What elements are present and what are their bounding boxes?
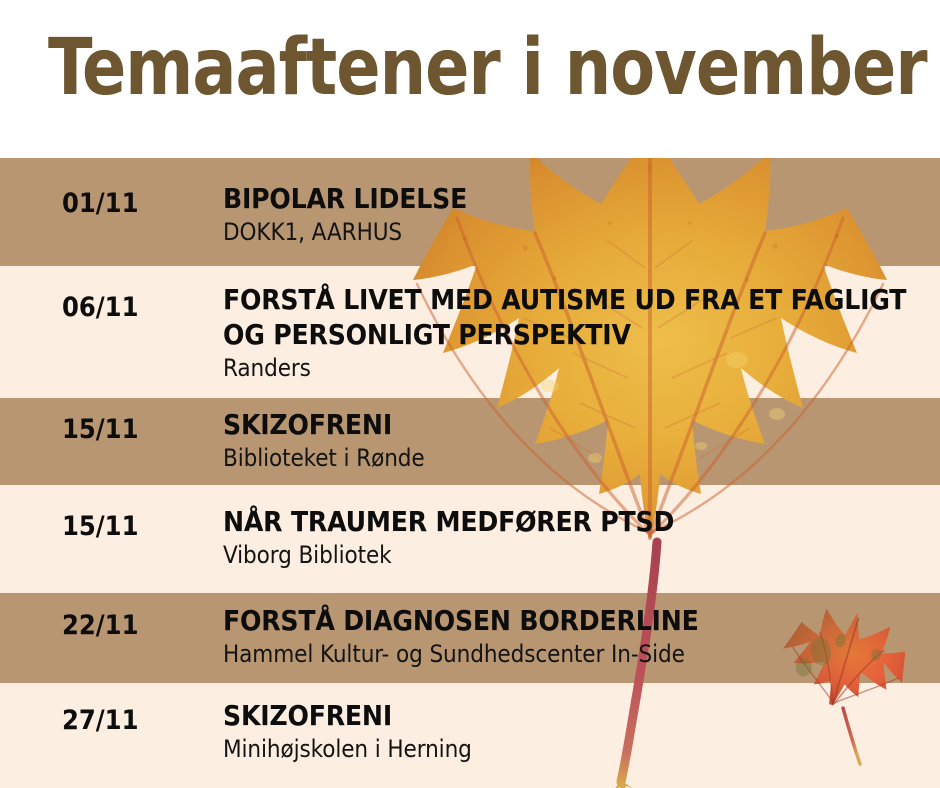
page-title: Temaaftener i november — [48, 24, 927, 112]
stripe-band-2 — [0, 266, 940, 398]
stripe-band-1 — [0, 158, 940, 266]
poster-canvas: 01/11BIPOLAR LIDELSEDOKK1, AARHUS06/11FO… — [0, 0, 940, 788]
stripe-band-3 — [0, 398, 940, 485]
stripe-band-5 — [0, 593, 940, 683]
title-band: Temaaftener i november — [0, 0, 940, 158]
stripe-band-6 — [0, 683, 940, 788]
stripe-band-4 — [0, 485, 940, 593]
